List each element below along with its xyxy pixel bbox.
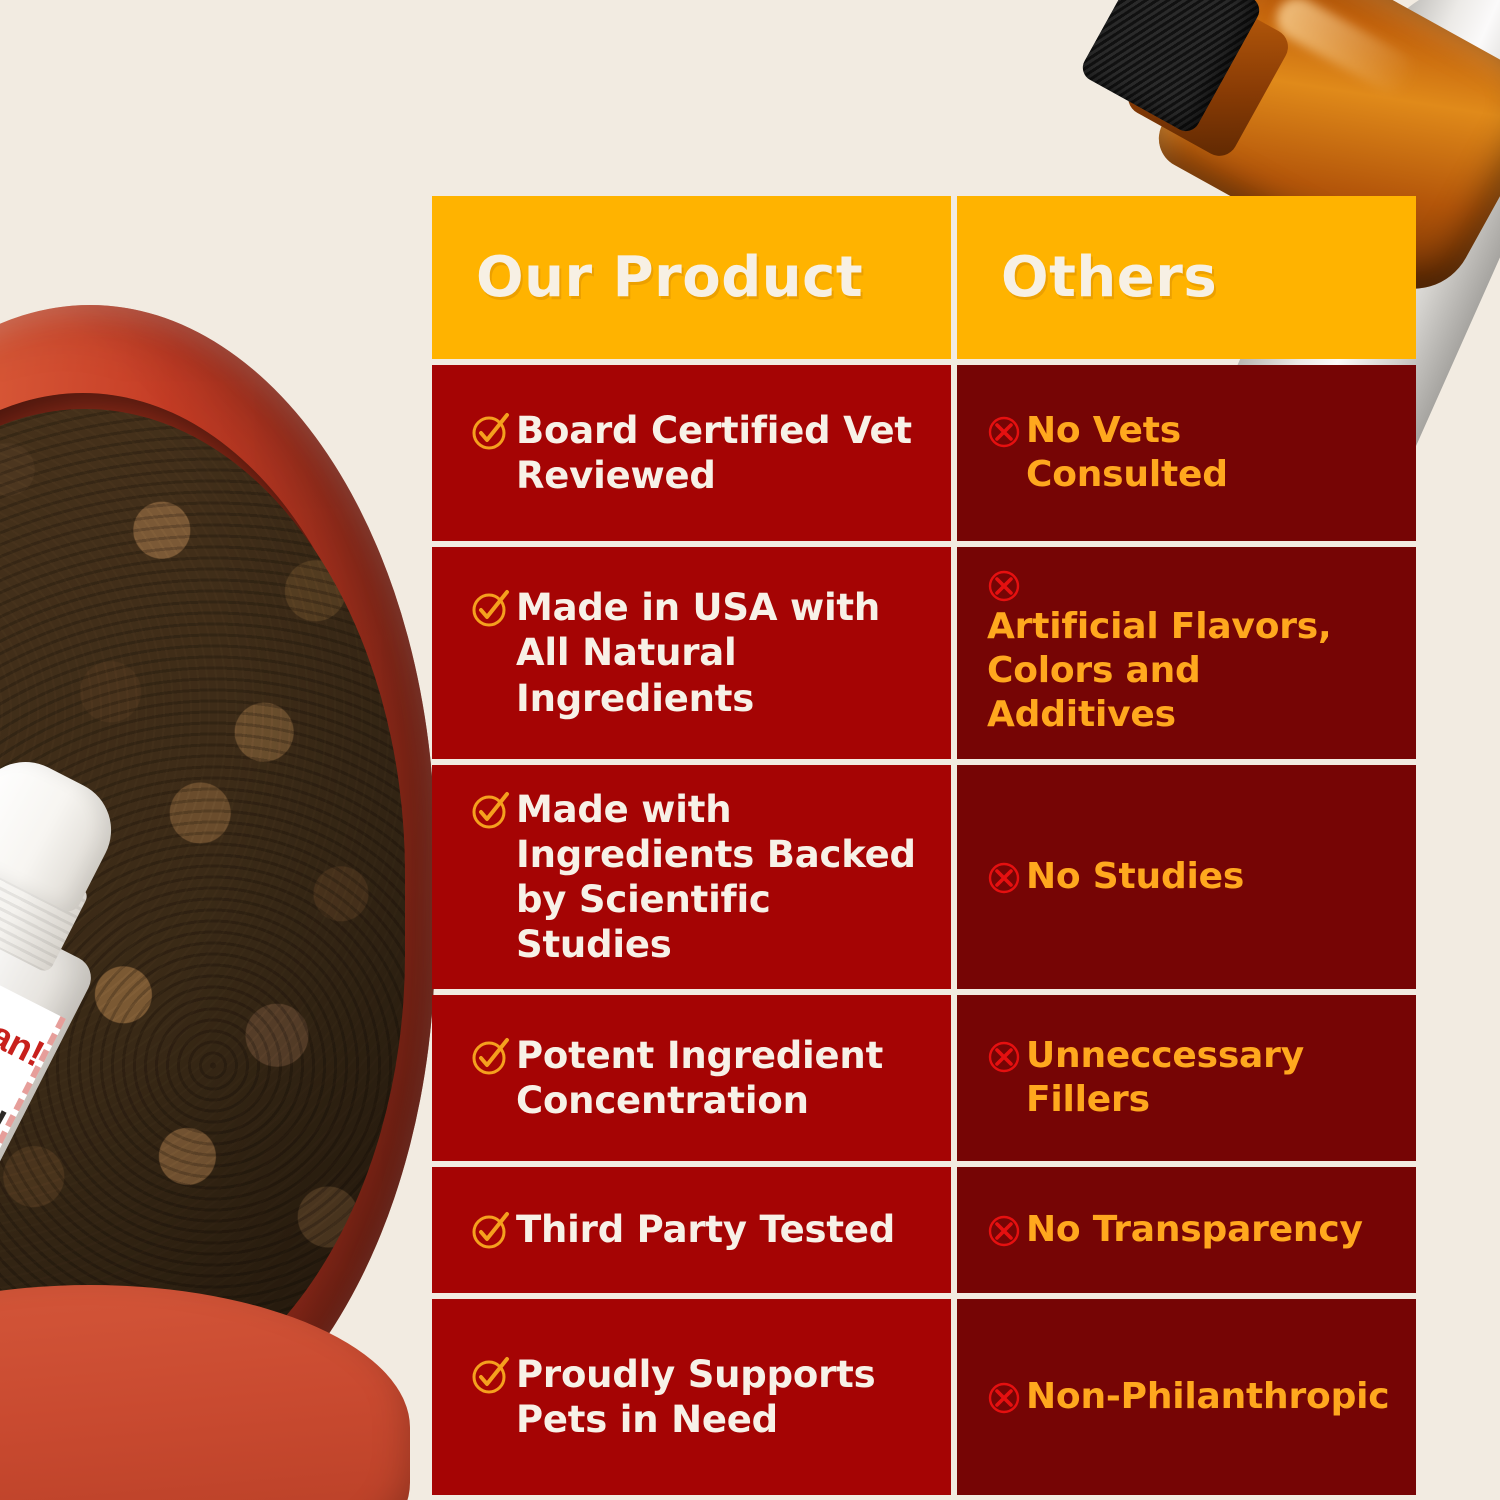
ours-benefit-text: Third Party Tested	[516, 1207, 895, 1252]
others-cell: No Transparency	[957, 1167, 1416, 1293]
x-circle-icon	[987, 1214, 1021, 1248]
others-drawback-text: Artificial Flavors, Colors and Additives	[987, 606, 1332, 735]
ours-cell: Board Certified Vet Reviewed	[432, 365, 951, 541]
check-circle-icon	[470, 589, 510, 629]
others-cell: No Studies	[957, 765, 1416, 989]
x-circle-icon	[987, 415, 1021, 449]
ours-cell: Potent Ingredient Concentration	[432, 995, 951, 1161]
table-row: Made in USA with All Natural Ingredients…	[432, 547, 1416, 759]
header-cell-others: Others	[957, 196, 1416, 359]
others-cell: Artificial Flavors, Colors and Additives	[957, 547, 1416, 759]
others-drawback-text: No Vets Consulted	[1026, 409, 1390, 497]
check-circle-icon	[470, 412, 510, 452]
table-row: Potent Ingredient Concentration Unnecces…	[432, 995, 1416, 1161]
ours-benefit-text: Board Certified Vet Reviewed	[516, 408, 917, 498]
others-drawback-text: Unneccessary Fillers	[1026, 1034, 1390, 1122]
check-circle-icon	[470, 791, 510, 831]
check-circle-icon	[470, 1211, 510, 1251]
product-photo-dog-bowl: Oh Norman! Calm the Heck Down! Balanced …	[0, 305, 480, 1500]
x-circle-icon	[987, 1040, 1021, 1074]
ours-benefit-text: Potent Ingredient Concentration	[516, 1033, 917, 1123]
x-circle-icon	[987, 861, 1021, 895]
table-row: Proudly Supports Pets in Need Non-Philan…	[432, 1299, 1416, 1495]
others-drawback-text: No Transparency	[1026, 1208, 1363, 1252]
ours-benefit-text: Made with Ingredients Backed by Scientif…	[516, 787, 917, 968]
ours-cell: Made in USA with All Natural Ingredients	[432, 547, 951, 759]
header-label-our-product: Our Product	[476, 250, 863, 306]
others-cell: Non-Philanthropic	[957, 1299, 1416, 1495]
table-row: Made with Ingredients Backed by Scientif…	[432, 765, 1416, 989]
comparison-table: Our Product Others Board Certified Vet R…	[432, 196, 1416, 1495]
others-drawback-text: No Studies	[1026, 855, 1244, 899]
others-cell: No Vets Consulted	[957, 365, 1416, 541]
ours-benefit-text: Proudly Supports Pets in Need	[516, 1352, 917, 1442]
header-label-others: Others	[1001, 250, 1217, 306]
table-row: Third Party Tested No Transparency	[432, 1167, 1416, 1293]
others-cell: Unneccessary Fillers	[957, 995, 1416, 1161]
others-drawback-text: Non-Philanthropic	[1026, 1375, 1389, 1419]
check-circle-icon	[470, 1037, 510, 1077]
check-circle-icon	[470, 1356, 510, 1396]
infographic-canvas: Oh Norman! Calm the Heck Down! Balanced …	[0, 0, 1500, 1500]
ours-cell: Third Party Tested	[432, 1167, 951, 1293]
table-row: Board Certified Vet Reviewed No Vets Con…	[432, 365, 1416, 541]
ours-benefit-text: Made in USA with All Natural Ingredients	[516, 585, 917, 720]
ours-cell: Proudly Supports Pets in Need	[432, 1299, 951, 1495]
x-circle-icon	[987, 569, 1021, 603]
header-cell-our-product: Our Product	[432, 196, 951, 359]
x-circle-icon	[987, 1381, 1021, 1415]
ours-cell: Made with Ingredients Backed by Scientif…	[432, 765, 951, 989]
table-header-row: Our Product Others	[432, 196, 1416, 359]
